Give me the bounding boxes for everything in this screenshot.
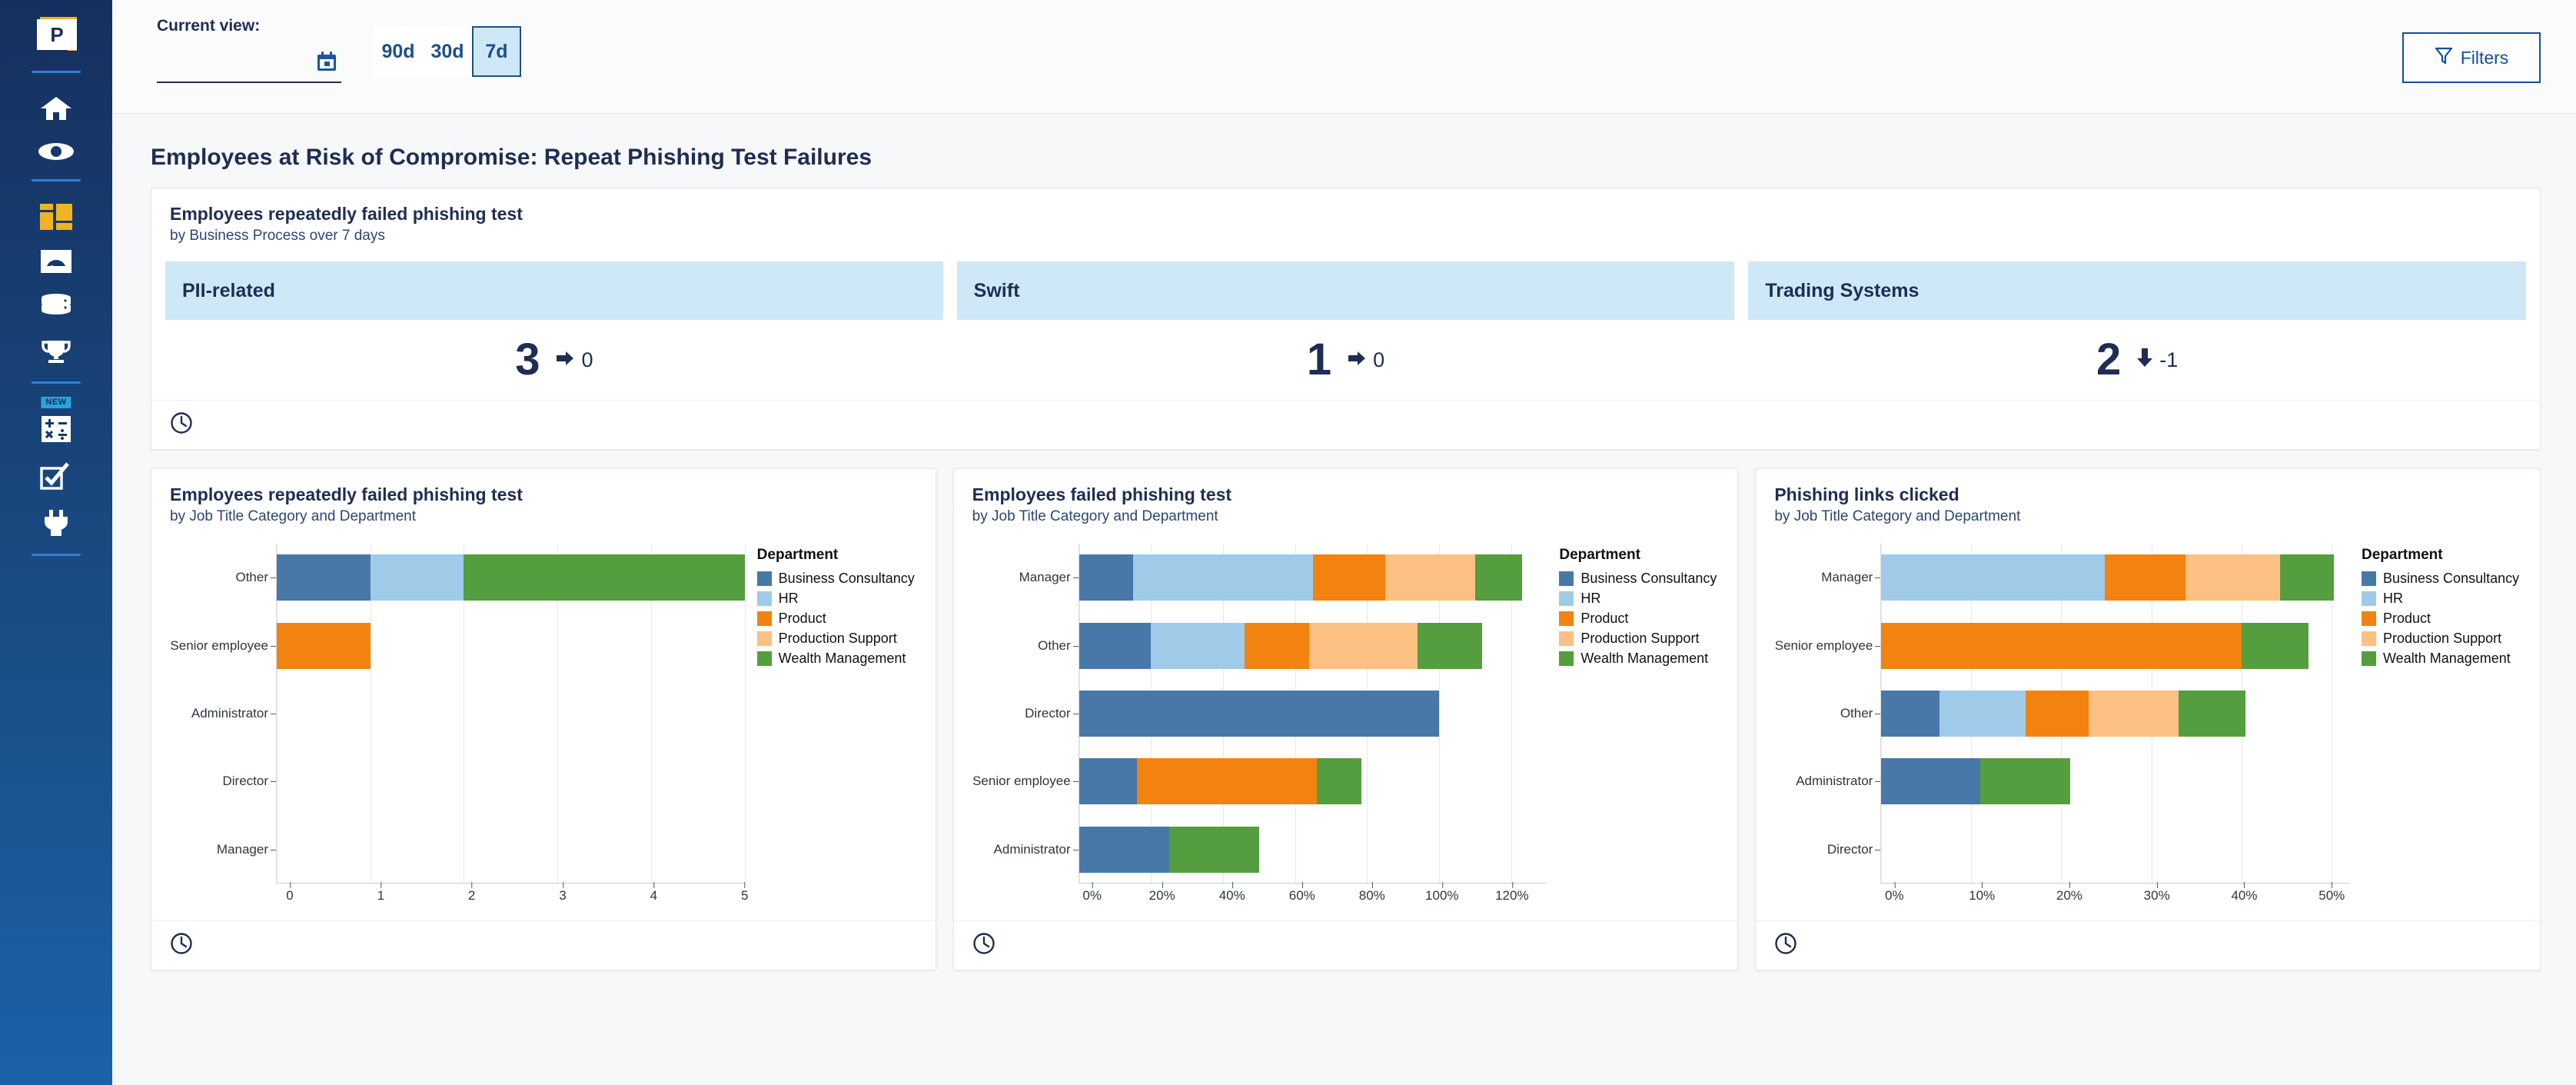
x-axis-tick-mark	[2069, 882, 2070, 888]
chart-subtitle: by Job Title Category and Department	[972, 508, 1720, 525]
legend-label: Wealth Management	[779, 651, 906, 667]
chart-title: Employees repeatedly failed phishing tes…	[170, 484, 917, 505]
stacked-bar[interactable]	[1079, 691, 1439, 737]
x-axis-tick-label: 60%	[1289, 888, 1315, 904]
x-axis: 0%20%40%60%80%100%120%	[1092, 888, 1547, 920]
bar-segment[interactable]	[1079, 827, 1169, 873]
legend-item[interactable]: Production Support	[757, 631, 922, 647]
bar-segment[interactable]	[277, 554, 371, 601]
x-axis-tick-label: 1	[377, 888, 384, 904]
calculator-icon	[42, 416, 71, 442]
x-axis-tick-label: 0%	[1082, 888, 1102, 904]
kpi-band-label: Swift	[957, 261, 1735, 320]
chart-body: ManagerOtherDirectorSenior employeeAdmin…	[954, 527, 1738, 888]
kpi-cell-pii-related[interactable]: PII-related 3 0	[165, 261, 943, 400]
x-axis-tick-mark	[1162, 882, 1163, 888]
y-axis-tick-label: Manager	[1763, 544, 1880, 611]
chart-body: OtherSenior employeeAdministratorDirecto…	[151, 527, 936, 888]
legend-swatch	[1559, 571, 1574, 586]
y-axis-tick-label: Other	[159, 544, 276, 611]
arrow-down-icon	[2136, 348, 2153, 373]
legend-label: Product	[2383, 611, 2431, 627]
legend-item[interactable]: HR	[757, 591, 922, 607]
legend-label: Production Support	[2383, 631, 2501, 647]
x-axis-tick-mark	[1372, 882, 1373, 888]
logo-letter: P	[37, 19, 77, 50]
kpi-delta: -1	[2136, 348, 2178, 373]
legend-item[interactable]: Wealth Management	[757, 651, 922, 667]
y-axis-tick-label: Director	[159, 747, 276, 815]
legend-items: Business ConsultancyHRProductProduction …	[2362, 571, 2526, 667]
new-badge: NEW	[41, 397, 71, 408]
top-toolbar: Current view: 90d	[112, 0, 2576, 114]
sidebar-item-analytics[interactable]	[0, 240, 112, 283]
kpi-delta-value: 0	[581, 348, 593, 372]
legend-item[interactable]: Product	[2362, 611, 2526, 627]
stacked-bar[interactable]	[1881, 758, 2070, 804]
plot-area: OtherSenior employeeAdministratorDirecto…	[159, 544, 745, 884]
plot-canvas[interactable]	[276, 544, 745, 884]
bar-segment[interactable]	[2185, 554, 2280, 601]
legend-swatch	[757, 651, 772, 666]
stacked-bar[interactable]	[1079, 554, 1522, 601]
kpi-row: PII-related 3 0 Swift	[151, 251, 2540, 400]
sidebar-divider-2	[32, 179, 81, 181]
bar-segment[interactable]	[1881, 691, 1939, 737]
bar-segment[interactable]	[1137, 758, 1317, 804]
bar-segment[interactable]	[1939, 691, 2025, 737]
y-axis-labels: OtherSenior employeeAdministratorDirecto…	[159, 544, 276, 884]
legend-label: Wealth Management	[2383, 651, 2511, 667]
bar-segment[interactable]	[2179, 691, 2246, 737]
stacked-bar[interactable]	[1079, 623, 1482, 669]
legend-label: Production Support	[1581, 631, 1699, 647]
filters-button[interactable]: Filters	[2402, 32, 2541, 83]
x-axis-tick-label: 30%	[2144, 888, 2170, 904]
plot-area: ManagerOtherDirectorSenior employeeAdmin…	[962, 544, 1547, 884]
plot-canvas[interactable]	[1880, 544, 2349, 884]
x-axis-tick-label: 4	[650, 888, 657, 904]
calendar-icon[interactable]	[315, 51, 338, 78]
filter-icon	[2435, 46, 2453, 69]
chart-card-repeat-failures: Employees repeatedly failed phishing tes…	[151, 468, 936, 970]
bar-segment[interactable]	[1245, 623, 1309, 669]
chart-subtitle: by Job Title Category and Department	[1774, 508, 2521, 525]
chart-legend: Department Business ConsultancyHRProduct…	[745, 544, 922, 884]
sidebar-item-achievements[interactable]	[0, 329, 112, 374]
bar-segment[interactable]	[1151, 623, 1245, 669]
clock-icon[interactable]	[170, 945, 193, 958]
kpi-value-row: 3 0	[165, 320, 943, 400]
bar-segment[interactable]	[2280, 554, 2334, 601]
x-axis-wrap: 012345	[151, 888, 936, 920]
x-axis-tick-label: 40%	[2231, 888, 2257, 904]
sidebar-divider-4	[32, 554, 81, 556]
bar-segment[interactable]	[2105, 554, 2185, 601]
legend-label: HR	[1581, 591, 1600, 607]
legend-swatch	[2362, 631, 2376, 646]
y-axis-tick-label: Senior employee	[159, 611, 276, 679]
bar-segment[interactable]	[371, 554, 464, 601]
chart-header: Employees repeatedly failed phishing tes…	[151, 469, 936, 527]
sidebar-item-home[interactable]	[0, 85, 112, 131]
filters-label: Filters	[2461, 48, 2509, 68]
x-axis-tick-label: 20%	[1149, 888, 1175, 904]
sidebar: P	[0, 0, 112, 1085]
kpi-card-subtitle: by Business Process over 7 days	[170, 228, 2521, 245]
bar-slot	[277, 816, 745, 884]
x-axis-tick-mark	[1302, 882, 1303, 888]
checkbox-edit-icon	[40, 462, 72, 490]
legend-swatch	[2362, 611, 2376, 626]
x-axis-tick-label: 40%	[1219, 888, 1245, 904]
bar-segment[interactable]	[1309, 623, 1417, 669]
legend-swatch	[2362, 651, 2376, 666]
plug-icon	[40, 510, 72, 536]
x-axis-tick-label: 120%	[1495, 888, 1528, 904]
sidebar-item-observe[interactable]	[0, 131, 112, 171]
y-axis-tick-label: Administrator	[159, 680, 276, 747]
bar-slot	[1079, 544, 1547, 611]
chart-header: Phishing links clicked by Job Title Cate…	[1756, 469, 2540, 527]
x-axis: 012345	[290, 888, 745, 920]
kpi-value: 1	[1307, 338, 1331, 382]
range-selector: 90d 30d 7d	[374, 26, 521, 77]
legend-swatch	[757, 611, 772, 626]
x-axis-tick-mark	[2157, 882, 2158, 888]
bar-slot	[277, 544, 745, 611]
bar-slot	[1881, 816, 2349, 884]
x-axis-tick-label: 0	[286, 888, 293, 904]
chart-title: Employees failed phishing test	[972, 484, 1720, 505]
kpi-value: 2	[2096, 338, 2121, 382]
x-axis-tick-mark	[290, 882, 291, 888]
y-axis-tick-label: Manager	[962, 544, 1079, 611]
bar-segment[interactable]	[1881, 623, 2241, 669]
bar-slot	[1881, 747, 2349, 815]
x-axis-tick-mark	[1894, 882, 1895, 888]
x-axis-tick-label: 3	[559, 888, 566, 904]
legend-items: Business ConsultancyHRProductProduction …	[757, 571, 922, 667]
bar-slot	[277, 747, 745, 815]
legend-title: Department	[2362, 547, 2526, 564]
kpi-value: 3	[515, 338, 540, 382]
x-axis-tick-mark	[1442, 882, 1443, 888]
stacked-bar[interactable]	[1881, 623, 2308, 669]
kpi-value-row: 1 0	[957, 320, 1735, 400]
legend-label: Wealth Management	[1581, 651, 1708, 667]
legend-item[interactable]: Business Consultancy	[2362, 571, 2526, 587]
arrow-right-icon	[1347, 348, 1367, 372]
y-axis-tick-label: Director	[962, 680, 1079, 747]
bar-segment[interactable]	[1385, 554, 1475, 601]
app-logo[interactable]: P	[0, 11, 112, 63]
kpi-card-header: Employees repeatedly failed phishing tes…	[151, 188, 2540, 251]
x-axis-wrap: 0%20%40%60%80%100%120%	[954, 888, 1738, 920]
bar-slot	[1881, 544, 2349, 611]
kpi-delta-value: 0	[1373, 348, 1384, 372]
sidebar-divider-3	[32, 381, 81, 384]
legend-swatch	[1559, 591, 1574, 606]
y-axis-tick-label: Senior employee	[962, 747, 1079, 815]
chart-card-links-clicked: Phishing links clicked by Job Title Cate…	[1755, 468, 2541, 970]
legend-item[interactable]: HR	[2362, 591, 2526, 607]
bar-segment[interactable]	[1317, 758, 1362, 804]
x-axis-tick-label: 10%	[1969, 888, 1995, 904]
x-axis-tick-mark	[472, 882, 473, 888]
kpi-band-label: Trading Systems	[1748, 261, 2526, 320]
stacked-bar[interactable]	[277, 554, 745, 601]
page-title: Employees at Risk of Compromise: Repeat …	[151, 145, 2541, 171]
kpi-card-footer	[151, 400, 2540, 449]
y-axis-labels: ManagerSenior employeeOtherAdministrator…	[1763, 544, 1880, 884]
range-button-7d[interactable]: 7d	[472, 26, 521, 77]
kpi-card: Employees repeatedly failed phishing tes…	[151, 188, 2541, 450]
legend-label: Business Consultancy	[2383, 571, 2519, 587]
chart-footer	[954, 920, 1738, 970]
content-area: Employees at Risk of Compromise: Repeat …	[112, 114, 2576, 1085]
legend-label: Production Support	[779, 631, 897, 647]
x-axis-tick-mark	[745, 882, 746, 888]
sidebar-item-dashboards[interactable]	[0, 194, 112, 240]
bar-group	[1881, 544, 2349, 884]
bar-segment[interactable]	[1980, 758, 2070, 804]
bar-segment[interactable]	[1079, 554, 1133, 601]
plot-area: ManagerSenior employeeOtherAdministrator…	[1763, 544, 2349, 884]
legend-swatch	[757, 591, 772, 606]
chart-legend: Department Business ConsultancyHRProduct…	[2349, 544, 2526, 884]
kpi-band-label: PII-related	[165, 261, 943, 320]
kpi-delta: 0	[555, 348, 593, 372]
app-root: P	[0, 0, 2576, 1085]
legend-item[interactable]: Production Support	[1559, 631, 1723, 647]
bar-group	[1079, 544, 1547, 884]
kpi-value-row: 2 -1	[1748, 320, 2526, 400]
bar-segment[interactable]	[1079, 623, 1152, 669]
legend-item[interactable]: Business Consultancy	[757, 571, 922, 587]
bar-segment[interactable]	[464, 554, 744, 601]
bar-slot	[277, 611, 745, 679]
legend-swatch	[2362, 571, 2376, 586]
main-area: Current view: 90d	[112, 0, 2576, 1085]
chart-subtitle: by Job Title Category and Department	[170, 508, 917, 525]
x-axis-tick-mark	[1982, 882, 1983, 888]
y-axis-tick-label: Senior employee	[1763, 611, 1880, 679]
legend-item[interactable]: Business Consultancy	[1559, 571, 1723, 587]
bar-slot	[1079, 680, 1547, 747]
bar-segment[interactable]	[1079, 758, 1137, 804]
y-axis-tick-label: Director	[1763, 816, 1880, 884]
bar-slot	[1079, 816, 1547, 884]
sidebar-item-integrations[interactable]	[0, 500, 112, 546]
x-axis-tick-label: 80%	[1359, 888, 1385, 904]
chart-title: Phishing links clicked	[1774, 484, 2521, 505]
x-axis-tick-label: 2	[468, 888, 475, 904]
range-button-90d[interactable]: 90d	[374, 26, 423, 77]
home-icon	[40, 95, 72, 121]
legend-swatch	[757, 631, 772, 646]
legend-item[interactable]: Product	[757, 611, 922, 627]
chart-footer	[151, 920, 936, 970]
legend-swatch	[1559, 651, 1574, 666]
bar-segment[interactable]	[1881, 758, 1980, 804]
legend-item[interactable]: Production Support	[2362, 631, 2526, 647]
stacked-bar[interactable]	[1079, 758, 1362, 804]
legend-label: Product	[1581, 611, 1628, 627]
legend-swatch	[757, 571, 772, 586]
y-axis-tick-label: Administrator	[1763, 747, 1880, 815]
x-axis-tick-mark	[2244, 882, 2245, 888]
bar-segment[interactable]	[1418, 623, 1482, 669]
eye-icon	[38, 141, 75, 161]
clock-icon[interactable]	[1774, 945, 1797, 958]
stacked-bar[interactable]	[1881, 554, 2334, 601]
chart-card-failed-test: Employees failed phishing test by Job Ti…	[953, 468, 1739, 970]
kpi-cell-swift[interactable]: Swift 1 0	[957, 261, 1735, 400]
bar-slot	[1079, 611, 1547, 679]
x-axis-tick-label: 100%	[1425, 888, 1458, 904]
legend-item[interactable]: Wealth Management	[2362, 651, 2526, 667]
range-button-30d[interactable]: 30d	[423, 26, 472, 77]
kpi-delta-value: -1	[2159, 348, 2178, 372]
date-range-field[interactable]	[157, 46, 341, 83]
legend-item[interactable]: Product	[1559, 611, 1723, 627]
sidebar-divider-1	[32, 71, 81, 73]
x-axis-tick-label: 5	[741, 888, 748, 904]
sidebar-item-calculator[interactable]: NEW	[0, 396, 112, 452]
stacked-bar[interactable]	[1079, 827, 1259, 873]
x-axis-tick-mark	[563, 882, 563, 888]
clock-icon[interactable]	[170, 424, 193, 438]
bar-slot	[1881, 611, 2349, 679]
current-view-label: Current view:	[157, 17, 341, 35]
legend-item[interactable]: HR	[1559, 591, 1723, 607]
legend-items: Business ConsultancyHRProductProduction …	[1559, 571, 1723, 667]
arrow-right-icon	[555, 348, 575, 372]
legend-title: Department	[1559, 547, 1723, 564]
toolbar-right: Filters	[2402, 32, 2541, 83]
date-range-input[interactable]	[157, 56, 315, 72]
fan-chart-icon	[41, 250, 71, 273]
kpi-delta: 0	[1347, 348, 1384, 372]
chart-body: ManagerSenior employeeOtherAdministrator…	[1756, 527, 2540, 888]
bar-segment[interactable]	[1881, 554, 2104, 601]
dashboard-icon	[40, 204, 72, 230]
x-axis-wrap: 0%10%20%30%40%50%	[1756, 888, 2540, 920]
x-axis: 0%10%20%30%40%50%	[1894, 888, 2349, 920]
bar-group	[277, 544, 745, 884]
trophy-icon	[40, 339, 72, 364]
chart-footer	[1756, 920, 2540, 970]
legend-swatch	[1559, 631, 1574, 646]
stacked-bar[interactable]	[277, 623, 371, 669]
y-axis-tick-label: Administrator	[962, 816, 1079, 884]
legend-label: HR	[779, 591, 799, 607]
kpi-cell-trading-systems[interactable]: Trading Systems 2 -1	[1748, 261, 2526, 400]
y-axis-tick-label: Other	[1763, 680, 1880, 747]
current-view-block: Current view:	[157, 17, 341, 83]
x-axis-tick-mark	[2332, 882, 2332, 888]
x-axis-tick-mark	[1092, 882, 1093, 888]
bar-segment[interactable]	[2089, 691, 2179, 737]
sidebar-item-data[interactable]	[0, 283, 112, 329]
kpi-card-title: Employees repeatedly failed phishing tes…	[170, 204, 2521, 225]
y-axis-tick-label: Manager	[159, 816, 276, 884]
legend-label: Business Consultancy	[779, 571, 915, 587]
legend-label: HR	[2383, 591, 2403, 607]
bar-segment[interactable]	[1079, 691, 1439, 737]
x-axis-tick-mark	[1512, 882, 1513, 888]
bar-segment[interactable]	[1169, 827, 1259, 873]
plot-canvas[interactable]	[1079, 544, 1547, 884]
bar-segment[interactable]	[2242, 623, 2309, 669]
y-axis-labels: ManagerOtherDirectorSenior employeeAdmin…	[962, 544, 1079, 884]
legend-swatch	[2362, 591, 2376, 606]
bar-slot	[277, 680, 745, 747]
stacked-bar[interactable]	[1881, 691, 2245, 737]
bar-segment[interactable]	[1475, 554, 1522, 601]
bar-segment[interactable]	[1313, 554, 1385, 601]
legend-swatch	[1559, 611, 1574, 626]
database-icon	[40, 293, 72, 319]
bar-segment[interactable]	[1133, 554, 1313, 601]
chart-legend: Department Business ConsultancyHRProduct…	[1547, 544, 1723, 884]
gridline	[745, 544, 746, 884]
charts-row: Employees repeatedly failed phishing tes…	[151, 468, 2541, 970]
sidebar-item-tasks[interactable]	[0, 452, 112, 500]
bar-segment[interactable]	[2026, 691, 2089, 737]
bar-slot	[1079, 747, 1547, 815]
x-axis-tick-mark	[1232, 882, 1233, 888]
legend-title: Department	[757, 547, 922, 564]
legend-item[interactable]: Wealth Management	[1559, 651, 1723, 667]
y-axis-tick-label: Other	[962, 611, 1079, 679]
chart-header: Employees failed phishing test by Job Ti…	[954, 469, 1738, 527]
x-axis-tick-mark	[653, 882, 654, 888]
x-axis-tick-label: 20%	[2056, 888, 2082, 904]
clock-icon[interactable]	[972, 945, 995, 958]
bar-slot	[1881, 680, 2349, 747]
x-axis-tick-label: 50%	[2318, 888, 2345, 904]
x-axis-tick-label: 0%	[1885, 888, 1904, 904]
x-axis-tick-mark	[381, 882, 381, 888]
legend-label: Product	[779, 611, 826, 627]
legend-label: Business Consultancy	[1581, 571, 1717, 587]
bar-segment[interactable]	[277, 623, 371, 669]
